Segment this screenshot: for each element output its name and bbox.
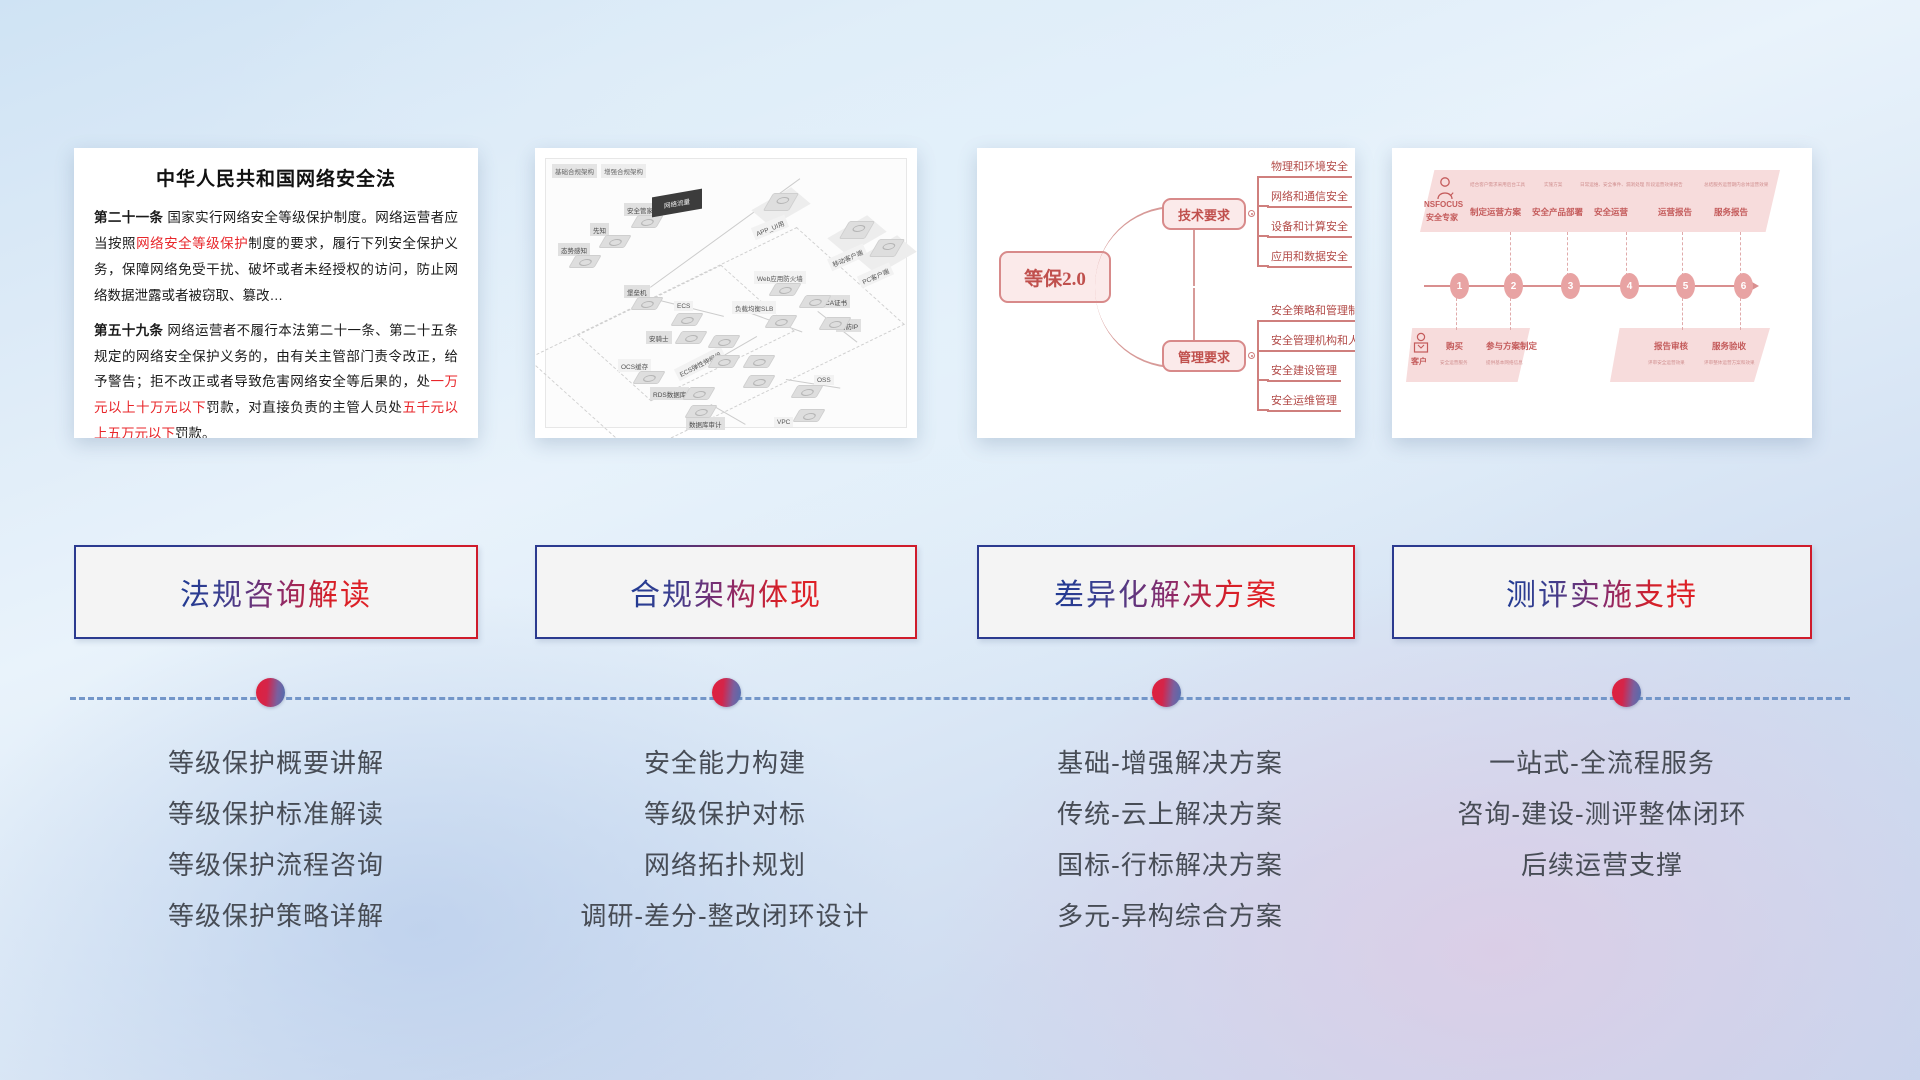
- mindmap-leaf: 安全管理机构和人员: [1267, 332, 1355, 352]
- law-document: 中华人民共和国网络安全法 第二十一条 国家实行网络安全等级保护制度。网络运营者应…: [74, 148, 478, 438]
- node-anqishi: 安骑士: [646, 331, 672, 344]
- mindmap: 等保2.0 技术要求 管理要求 物理和环境安全 网络和通信安全 设备和计算安全 …: [977, 148, 1355, 438]
- process-bottom-desc: 评审整体运营方案和效果: [1704, 360, 1755, 366]
- mindmap-branch-management: 管理要求: [1162, 340, 1246, 372]
- law-paragraph-21: 第二十一条 国家实行网络安全等级保护制度。网络运营者应当按照网络安全等级保护制度…: [94, 205, 458, 309]
- timeline-dot-1[interactable]: [256, 678, 285, 707]
- title-box-differentiated-solution[interactable]: 差异化解决方案: [977, 545, 1355, 639]
- process-top-title: 运营报告: [1658, 206, 1692, 218]
- law-title: 中华人民共和国网络安全法: [94, 164, 458, 191]
- list-item: 国标-行标解决方案: [960, 852, 1380, 878]
- mindmap-branch-technical: 技术要求: [1162, 198, 1246, 230]
- list-item: 咨询-建设-测评整体闭环: [1392, 801, 1812, 827]
- timeline-dot-2[interactable]: [712, 678, 741, 707]
- mindmap-spine-mgmt: [1257, 320, 1259, 410]
- list-item: 传统-云上解决方案: [960, 801, 1380, 827]
- node-oss: OSS: [814, 375, 834, 385]
- process-step-1[interactable]: 1: [1450, 273, 1469, 299]
- law-article-number: 第五十九条: [94, 323, 163, 338]
- timeline-dashed-line: [70, 697, 1850, 700]
- title-box-assessment-support[interactable]: 测评实施支持: [1392, 545, 1812, 639]
- law-text: 罚款。: [175, 426, 216, 438]
- law-paragraph-59: 第五十九条 网络运营者不履行本法第二十一条、第二十五条规定的网络安全保护义务的，…: [94, 318, 458, 438]
- list-item: 等级保护流程咨询: [74, 852, 478, 878]
- process-top-title: 服务报告: [1714, 206, 1748, 218]
- process-connector: [1682, 232, 1683, 276]
- title-label: 差异化解决方案: [1054, 570, 1278, 614]
- title-box-compliance-architecture[interactable]: 合规架构体现: [535, 545, 917, 639]
- process-top-title: 安全产品部署: [1532, 206, 1583, 218]
- architecture-canvas: 基础合规架构 增强合规架构 态势感知 先知 安: [545, 158, 907, 428]
- process-step-4[interactable]: 4: [1620, 273, 1639, 299]
- mindmap-spine-tech: [1257, 176, 1259, 266]
- provider-role-line2: 安全专家: [1426, 212, 1458, 223]
- card-cloud-architecture[interactable]: 基础合规架构 增强合规架构 态势感知 先知 安: [535, 148, 917, 438]
- process-bottom-title: 购买: [1446, 340, 1463, 352]
- architecture-tab-row: 基础合规架构 增强合规架构: [552, 164, 646, 178]
- process-bottom-title: 报告审核: [1654, 340, 1688, 352]
- process-top-desc: 总结服务运营期内总体运营效果: [1704, 182, 1768, 188]
- mindmap-leaf: 设备和计算安全: [1267, 218, 1352, 238]
- list-item: 等级保护标准解读: [74, 801, 478, 827]
- title-label: 法规咨询解读: [180, 570, 372, 614]
- process-connector: [1456, 298, 1457, 330]
- title-label: 合规架构体现: [630, 570, 822, 614]
- customer-band-right: [1610, 328, 1770, 382]
- node-xianzhi: 先知: [590, 223, 609, 236]
- slide-canvas: 中华人民共和国网络安全法 第二十一条 国家实行网络安全等级保护制度。网络运营者应…: [0, 0, 1920, 1080]
- feature-column-1: 等级保护概要讲解 等级保护标准解读 等级保护流程咨询 等级保护策略详解: [74, 750, 478, 954]
- timeline-dot-4[interactable]: [1612, 678, 1641, 707]
- law-article-number: 第二十一条: [94, 210, 163, 225]
- node-slb: 负载均衡SLB: [732, 301, 776, 314]
- provider-role-line1: NSFOCUS: [1424, 200, 1463, 209]
- process-connector: [1567, 232, 1568, 276]
- mindmap-collapse-dot-mgmt[interactable]: [1248, 352, 1255, 359]
- server-icon: [630, 215, 664, 228]
- server-icon: [568, 255, 602, 268]
- customer-role-label: 客户: [1411, 356, 1427, 367]
- expert-person-icon: [1434, 176, 1456, 200]
- law-text: 罚款，对直接负责的主管人员处: [206, 400, 402, 415]
- process-step-2[interactable]: 2: [1504, 273, 1523, 299]
- card-cybersecurity-law[interactable]: 中华人民共和国网络安全法 第二十一条 国家实行网络安全等级保护制度。网络运营者应…: [74, 148, 478, 438]
- process-connector: [1510, 298, 1511, 330]
- process-bottom-title: 参与方案制定: [1486, 340, 1537, 352]
- process-top-desc: 日常运维、安全事件、漏洞处理: [1580, 182, 1644, 188]
- process-top-title: 制定运营方案: [1470, 206, 1521, 218]
- feature-column-4: 一站式-全流程服务 咨询-建设-测评整体闭环 后续运营支撑: [1392, 750, 1812, 903]
- process-step-6[interactable]: 6: [1734, 273, 1753, 299]
- process-connector: [1682, 298, 1683, 330]
- mindmap-leaf: 安全建设管理: [1267, 362, 1341, 382]
- process-connector: [1510, 232, 1511, 276]
- list-item: 后续运营支撑: [1392, 852, 1812, 878]
- process-step-5[interactable]: 5: [1676, 273, 1695, 299]
- timeline: [0, 690, 1920, 730]
- process-bottom-desc: 评审安全运营效果: [1648, 360, 1685, 366]
- timeline-dot-3[interactable]: [1152, 678, 1181, 707]
- process-bottom-desc: 安全运营服务: [1440, 360, 1468, 366]
- server-icon: [792, 409, 826, 422]
- list-item: 多元-异构综合方案: [960, 903, 1380, 929]
- card-service-process[interactable]: NSFOCUS 安全专家 结合客户需求采用后台工具 制定运营方案 实施方案 安全…: [1392, 148, 1812, 438]
- customer-person-icon: [1412, 332, 1430, 354]
- process-bottom-title: 服务验收: [1712, 340, 1746, 352]
- law-highlight: 网络安全等级保护: [136, 236, 248, 251]
- list-item: 一站式-全流程服务: [1392, 750, 1812, 776]
- process-diagram: NSFOCUS 安全专家 结合客户需求采用后台工具 制定运营方案 实施方案 安全…: [1392, 148, 1812, 438]
- process-bottom-desc: 提供基本网络信息: [1486, 360, 1523, 366]
- process-top-title: 安全运营: [1594, 206, 1628, 218]
- process-connector: [1626, 232, 1627, 276]
- title-box-row: 法规咨询解读 合规架构体现 差异化解决方案 测评实施支持: [0, 545, 1920, 660]
- list-item: 基础-增强解决方案: [960, 750, 1380, 776]
- mindmap-root: 等保2.0: [999, 251, 1111, 303]
- process-step-3[interactable]: 3: [1561, 273, 1580, 299]
- process-top-desc: 结合客户需求采用后台工具: [1470, 182, 1525, 188]
- node-database-audit: 数据库审计: [686, 417, 725, 430]
- list-item: 等级保护对标: [510, 801, 940, 827]
- process-top-desc: 实施方案: [1544, 182, 1562, 188]
- server-icon: [790, 385, 824, 398]
- mindmap-leaf: 安全运维管理: [1267, 392, 1341, 412]
- tab-basic-compliance[interactable]: 基础合规架构: [552, 164, 597, 178]
- feature-column-3: 基础-增强解决方案 传统-云上解决方案 国标-行标解决方案 多元-异构综合方案: [960, 750, 1380, 954]
- provider-band: [1420, 170, 1780, 232]
- list-item: 调研-差分-整改闭环设计: [510, 903, 940, 929]
- feature-column-2: 安全能力构建 等级保护对标 网络拓扑规划 调研-差分-整改闭环设计: [510, 750, 940, 954]
- list-item: 等级保护策略详解: [74, 903, 478, 929]
- process-axis: [1424, 285, 1754, 287]
- node-network-traffic-banner: 网络流量: [652, 189, 702, 218]
- mindmap-leaf: 物理和环境安全: [1267, 158, 1352, 178]
- tab-enhanced-compliance[interactable]: 增强合规架构: [601, 164, 646, 178]
- mindmap-leaf: 网络和通信安全: [1267, 188, 1352, 208]
- title-box-regulation-consulting[interactable]: 法规咨询解读: [74, 545, 478, 639]
- process-top-desc: 阶段运营效果报告: [1646, 182, 1683, 188]
- process-connector: [1740, 232, 1741, 276]
- title-label: 测评实施支持: [1506, 570, 1698, 614]
- node-vpc: VPC: [774, 417, 793, 427]
- node-ecs: ECS: [674, 301, 693, 311]
- process-connector: [1740, 298, 1741, 330]
- list-item: 网络拓扑规划: [510, 852, 940, 878]
- list-item: 安全能力构建: [510, 750, 940, 776]
- mindmap-collapse-dot-tech[interactable]: [1248, 210, 1255, 217]
- mindmap-leaf: 安全策略和管理制度: [1267, 302, 1355, 322]
- image-card-row: 中华人民共和国网络安全法 第二十一条 国家实行网络安全等级保护制度。网络运营者应…: [0, 148, 1920, 448]
- list-item: 等级保护概要讲解: [74, 750, 478, 776]
- server-icon: [598, 235, 632, 248]
- card-dengbao-mindmap[interactable]: 等保2.0 技术要求 管理要求 物理和环境安全 网络和通信安全 设备和计算安全 …: [977, 148, 1355, 438]
- mindmap-leaf: 应用和数据安全: [1267, 248, 1352, 268]
- architecture-diagram: 基础合规架构 增强合规架构 态势感知 先知 安: [535, 148, 917, 438]
